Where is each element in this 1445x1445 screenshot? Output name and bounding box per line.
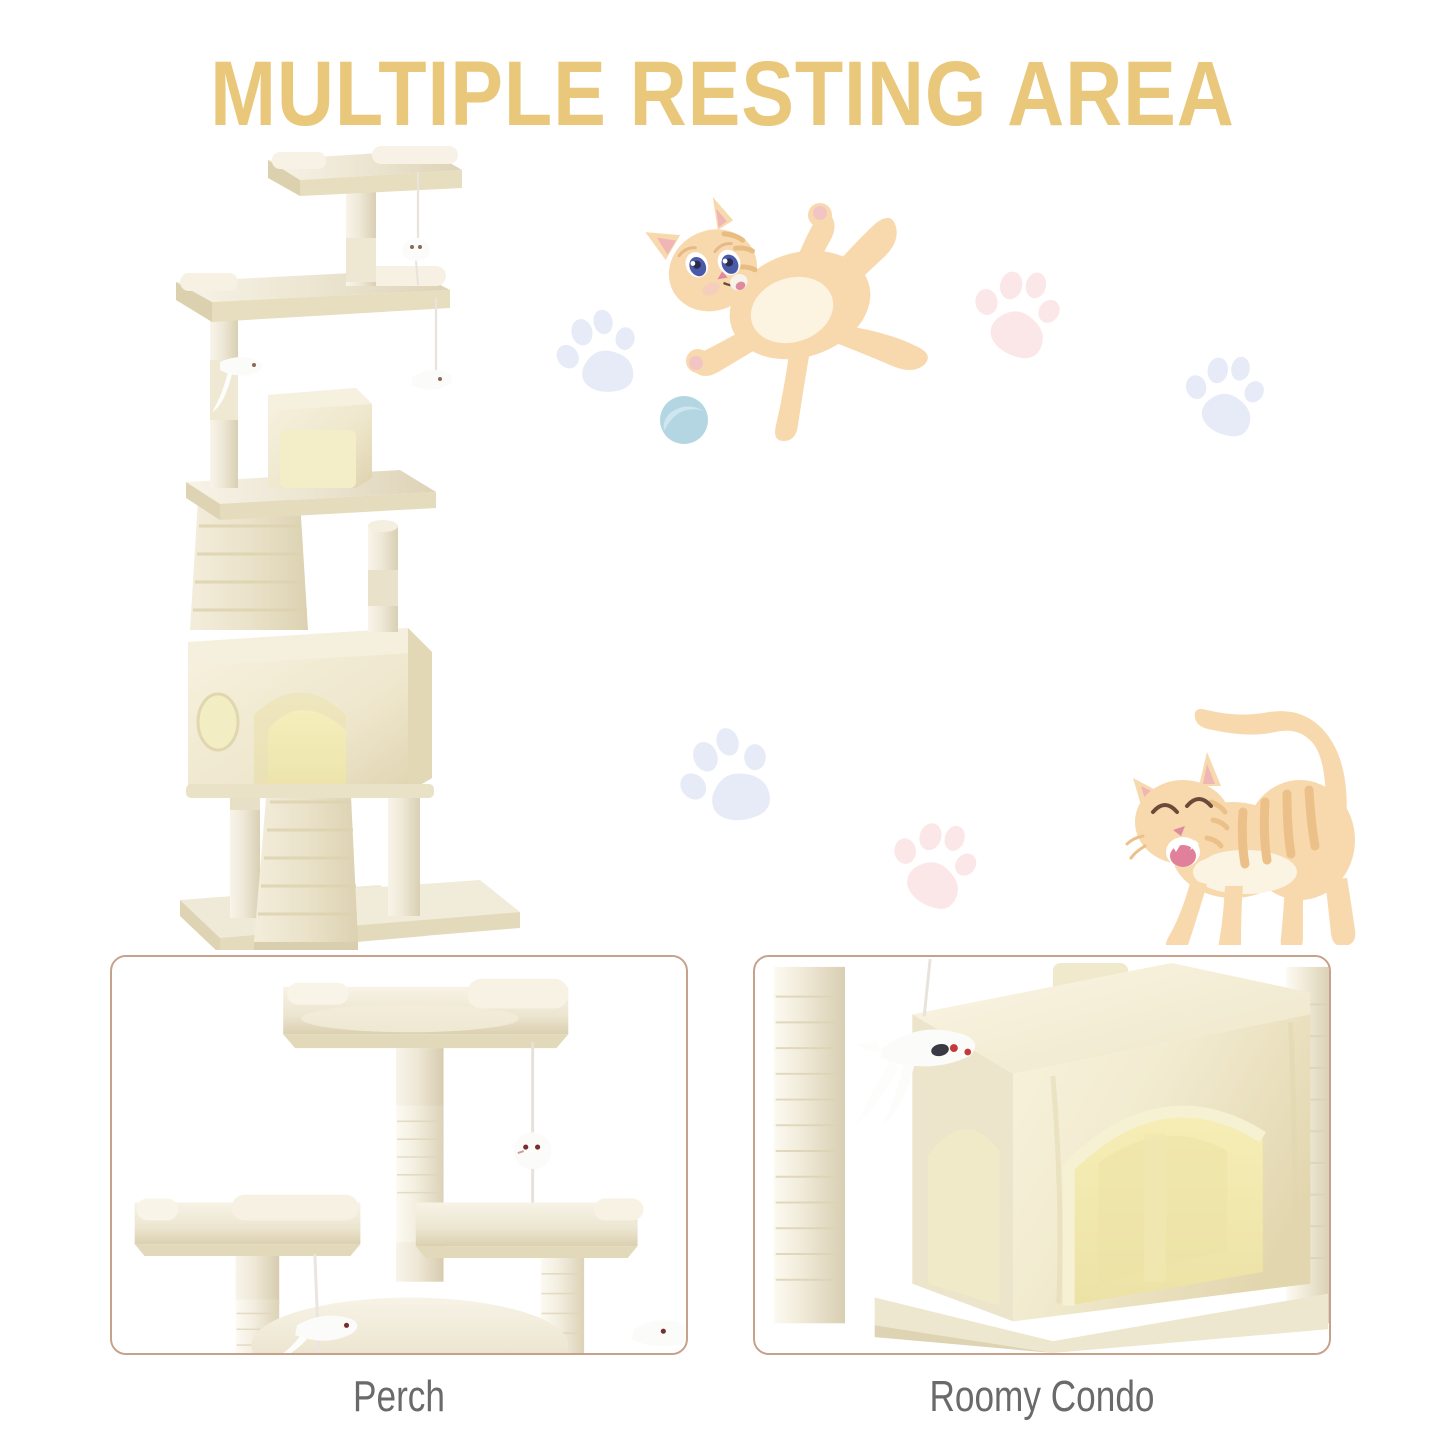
paw-print-pink-2 [873,805,996,928]
condo-closeup-illustration [755,957,1329,1353]
caption-condo: Roomy Condo [811,1372,1273,1422]
center-post-plush [396,1048,444,1107]
playing-cat-illustration [640,185,950,450]
perch-platform-top [268,146,462,196]
page-title: MULTIPLE RESTING AREA [101,46,1344,143]
stretching-cat-illustration [1125,690,1390,945]
condo-cube [912,963,1310,1321]
ramp-mid [190,500,308,630]
upper-plush-box [268,388,372,488]
cat-tree-illustration [150,130,580,950]
left-sisal-post [774,967,845,1323]
caption-perch: Perch [168,1372,630,1422]
perch-platform-upper [176,266,450,322]
hanging-mouse-toy-mid [412,298,452,390]
condo-box [186,628,434,798]
mid-left-shelf [135,1195,361,1256]
paw-print-pink-1 [957,255,1078,376]
perch-closeup-illustration [112,957,686,1353]
blue-ball [660,396,708,444]
detail-panel-condo [753,955,1331,1355]
product-feature-graphic: MULTIPLE RESTING AREA [0,0,1445,1445]
detail-panel-perch [110,955,688,1355]
paw-print-blue-3 [661,711,799,849]
mid-right-shelf [416,1199,644,1258]
ramp-lower [254,775,358,950]
hero-product-image [150,130,580,950]
paw-print-blue-1 [544,299,657,412]
top-perch-shelf [283,979,568,1048]
paw-print-blue-2 [1173,345,1280,452]
